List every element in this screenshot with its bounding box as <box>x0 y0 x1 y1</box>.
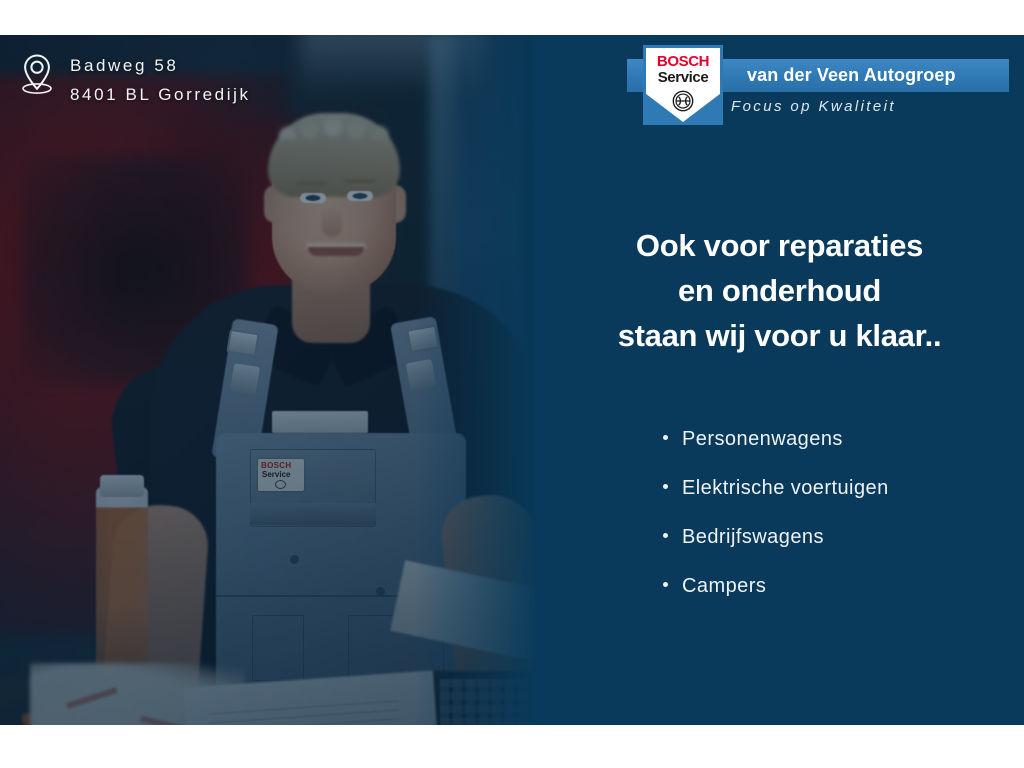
headline-line-3: staan wij voor u klaar.. <box>535 313 1024 358</box>
address-street: Badweg 58 <box>70 51 251 80</box>
bullet-dot-icon <box>663 533 668 538</box>
address-block: Badweg 58 8401 BL Gorredijk <box>20 51 251 109</box>
location-pin-icon <box>20 53 54 95</box>
bullet-dot-icon <box>663 582 668 587</box>
photo-edge-fade <box>415 35 535 725</box>
headline-line-1: Ook voor reparaties <box>535 223 1024 268</box>
service-label: Campers <box>682 572 766 600</box>
service-wordmark: Service <box>646 70 720 85</box>
address-city: 8401 BL Gorredijk <box>70 80 251 109</box>
company-tagline: Focus op Kwaliteit <box>731 95 896 119</box>
company-name: van der Veen Autogroep <box>747 60 1024 91</box>
mechanic-photo: BOSCH Service <box>0 35 535 725</box>
headline-line-2: en onderhoud <box>535 268 1024 313</box>
services-list: Personenwagens Elektrische voertuigen Be… <box>663 425 889 621</box>
bosch-wordmark: BOSCH <box>646 54 720 69</box>
promo-banner: BOSCH Service <box>0 35 1024 725</box>
bullet-dot-icon <box>663 435 668 440</box>
list-item: Campers <box>663 572 889 600</box>
service-label: Personenwagens <box>682 425 843 453</box>
list-item: Personenwagens <box>663 425 889 453</box>
bullet-dot-icon <box>663 484 668 489</box>
service-label: Bedrijfswagens <box>682 523 824 551</box>
service-label: Elektrische voertuigen <box>682 474 889 502</box>
address-lines: Badweg 58 8401 BL Gorredijk <box>70 51 251 109</box>
info-panel: BOSCH Service van der Veen Autogroep Foc… <box>535 35 1024 725</box>
list-item: Elektrische voertuigen <box>663 474 889 502</box>
bosch-armature-emblem <box>672 90 694 112</box>
headline: Ook voor reparaties en onderhoud staan w… <box>535 223 1024 358</box>
bosch-service-logo: BOSCH Service <box>643 45 723 125</box>
bosch-logo-shield: BOSCH Service <box>646 48 720 122</box>
list-item: Bedrijfswagens <box>663 523 889 551</box>
